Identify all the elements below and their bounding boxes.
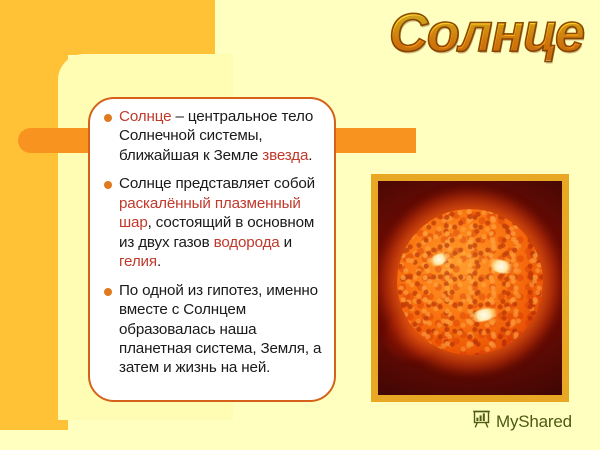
bullet-item-3: По одной из гипотез, именно вместе с Сол… xyxy=(98,281,324,378)
bullet-dot-icon xyxy=(104,181,112,189)
highlighted-term: звезда xyxy=(262,147,308,164)
decoration-orange-block xyxy=(0,0,215,55)
body-text: . xyxy=(157,253,161,270)
bullet-text-1: Солнце – центральное тело Солнечной сист… xyxy=(119,107,324,165)
sun-disc xyxy=(397,209,543,355)
bullet-text-3: По одной из гипотез, именно вместе с Сол… xyxy=(119,281,324,378)
bullet-dot-icon xyxy=(104,288,112,296)
body-text: Солнце представляет собой xyxy=(119,175,315,192)
sun-granulation-texture xyxy=(397,209,543,355)
body-text: . xyxy=(308,147,312,164)
content-card: Солнце – центральное тело Солнечной сист… xyxy=(88,97,336,402)
sun-image-frame xyxy=(371,174,569,402)
body-text: и xyxy=(280,234,292,251)
bullet-item-2: Солнце представляет собой раскалённый пл… xyxy=(98,174,324,271)
highlighted-term: Солнце xyxy=(119,108,171,125)
presentation-chart-icon xyxy=(472,410,491,434)
watermark-label: MyShared xyxy=(496,412,572,432)
bullet-text-2: Солнце представляет собой раскалённый пл… xyxy=(119,174,324,271)
slide-title: Солнце xyxy=(389,6,584,60)
sun-photograph xyxy=(378,181,562,395)
bullet-item-1: Солнце – центральное тело Солнечной сист… xyxy=(98,107,324,165)
body-text: По одной из гипотез, именно вместе с Сол… xyxy=(119,282,321,377)
presentation-slide: Солнце Солнце – центральное тело Солнечн… xyxy=(0,0,600,450)
watermark: MyShared xyxy=(472,410,572,434)
highlighted-term: водорода xyxy=(214,234,280,251)
highlighted-term: гелия xyxy=(119,253,157,270)
bullet-dot-icon xyxy=(104,114,112,122)
